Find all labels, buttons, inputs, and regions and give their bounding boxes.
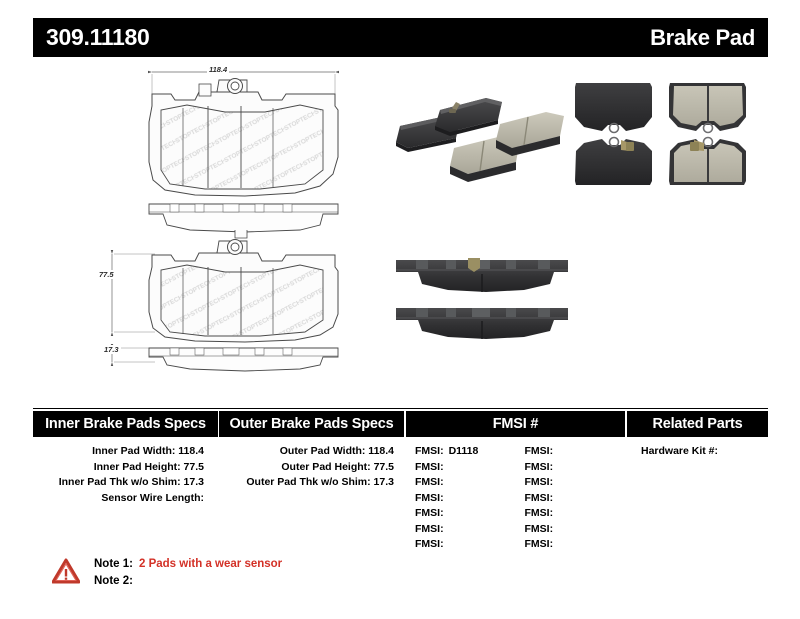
fmsi-value [553, 461, 558, 473]
note-1-value: 2 Pads with a wear sensor [133, 558, 282, 570]
fmsi-row: FMSI: [516, 460, 626, 476]
fmsi-label: FMSI: [525, 538, 554, 550]
spec-row: Inner Pad Width: 118.4 [33, 444, 218, 460]
product-photos [385, 70, 775, 360]
column-body-related: Hardware Kit #: [627, 437, 768, 460]
column-body-fmsi: FMSI:D1118 FMSI: FMSI: FMSI: FMSI: FMSI:… [406, 437, 625, 553]
fmsi-label: FMSI: [525, 476, 554, 488]
fmsi-row: FMSI: [406, 506, 516, 522]
photo-pad-grid [570, 75, 765, 198]
fmsi-value [553, 492, 558, 504]
fmsi-row: FMSI: [516, 537, 626, 553]
photo-pad-edges [390, 250, 575, 350]
column-body-outer: Outer Pad Width: 118.4 Outer Pad Height:… [219, 437, 404, 491]
pad-edge-view-upper [149, 204, 338, 238]
fmsi-row: FMSI: [406, 522, 516, 538]
header-bar: 309.11180 Brake Pad [33, 18, 768, 57]
fmsi-value [444, 538, 449, 550]
spec-row: Sensor Wire Length: [33, 491, 218, 507]
fmsi-value [553, 476, 558, 488]
pad-top-view [149, 72, 338, 196]
fmsi-value [553, 507, 558, 519]
fmsi-value [553, 445, 558, 457]
fmsi-row: FMSI: [516, 522, 626, 538]
note-lines: Note 1:2 Pads with a wear sensor Note 2: [94, 556, 282, 590]
fmsi-row: FMSI: [516, 506, 626, 522]
dimension-width-label: 118.4 [207, 65, 229, 74]
specifications-table: Inner Brake Pads Specs Inner Pad Width: … [33, 411, 768, 551]
column-header-inner: Inner Brake Pads Specs [33, 411, 218, 437]
fmsi-value [553, 538, 558, 550]
pad-edge-view-lower [112, 348, 338, 371]
fmsi-row: FMSI: [406, 475, 516, 491]
note-1-row: Note 1:2 Pads with a wear sensor [94, 556, 282, 573]
column-related-parts: Related Parts Hardware Kit #: [627, 411, 768, 551]
fmsi-label: FMSI: [525, 492, 554, 504]
part-number: 309.11180 [46, 24, 149, 51]
fmsi-label: FMSI: [415, 507, 444, 519]
fmsi-label: FMSI: [415, 476, 444, 488]
fmsi-label: FMSI: [415, 538, 444, 550]
column-inner-specs: Inner Brake Pads Specs Inner Pad Width: … [33, 411, 218, 551]
column-outer-specs: Outer Brake Pads Specs Outer Pad Width: … [219, 411, 404, 551]
fmsi-row: FMSI: [516, 475, 626, 491]
fmsi-value [444, 476, 449, 488]
warning-triangle-icon [52, 558, 80, 589]
column-fmsi: FMSI # FMSI:D1118 FMSI: FMSI: FMSI: FMSI… [406, 411, 625, 551]
fmsi-label: FMSI: [525, 507, 554, 519]
brake-pad-drawing-svg: STOPTECH [95, 62, 360, 372]
fmsi-row: FMSI: [406, 491, 516, 507]
fmsi-value [444, 523, 449, 535]
note-2-label: Note 2: [94, 575, 133, 587]
fmsi-label: FMSI: [525, 461, 554, 473]
fmsi-value [553, 523, 558, 535]
spec-row: Outer Pad Height: 77.5 [219, 460, 404, 476]
spec-row: Outer Pad Width: 118.4 [219, 444, 404, 460]
fmsi-value [444, 492, 449, 504]
spec-row: Inner Pad Thk w/o Shim: 17.3 [33, 475, 218, 491]
column-body-inner: Inner Pad Width: 118.4 Inner Pad Height:… [33, 437, 218, 506]
fmsi-value [444, 507, 449, 519]
technical-drawings: STOPTECH [95, 62, 360, 372]
column-header-outer: Outer Brake Pads Specs [219, 411, 404, 437]
fmsi-row: FMSI: [516, 444, 626, 460]
spec-row: Inner Pad Height: 77.5 [33, 460, 218, 476]
fmsi-subcolumn-right: FMSI: FMSI: FMSI: FMSI: FMSI: FMSI: FMSI… [516, 444, 626, 553]
related-row: Hardware Kit #: [641, 444, 768, 460]
fmsi-label: FMSI: [525, 523, 554, 535]
product-type-label: Brake Pad [650, 25, 755, 51]
dimension-thickness-label: 17.3 [102, 345, 121, 354]
note-1-label: Note 1: [94, 558, 133, 570]
pad-second-view [112, 240, 338, 343]
note-2-value [133, 575, 139, 587]
note-2-row: Note 2: [94, 573, 282, 590]
fmsi-row: FMSI:D1118 [406, 444, 516, 460]
column-header-related: Related Parts [627, 411, 768, 437]
fmsi-label: FMSI: [415, 492, 444, 504]
fmsi-label: FMSI: [415, 523, 444, 535]
fmsi-label: FMSI: [525, 445, 554, 457]
spec-row: Outer Pad Thk w/o Shim: 17.3 [219, 475, 404, 491]
fmsi-subcolumn-left: FMSI:D1118 FMSI: FMSI: FMSI: FMSI: FMSI:… [406, 444, 516, 553]
dimension-height-label: 77.5 [97, 270, 116, 279]
table-top-rule [33, 408, 768, 409]
fmsi-row: FMSI: [406, 460, 516, 476]
fmsi-label: FMSI: [415, 461, 444, 473]
fmsi-value [444, 461, 449, 473]
fmsi-row: FMSI: [406, 537, 516, 553]
fmsi-value: D1118 [444, 445, 479, 457]
fmsi-label: FMSI: [415, 445, 444, 457]
column-header-fmsi: FMSI # [406, 411, 625, 437]
fmsi-row: FMSI: [516, 491, 626, 507]
photo-angled-pads [390, 80, 570, 195]
